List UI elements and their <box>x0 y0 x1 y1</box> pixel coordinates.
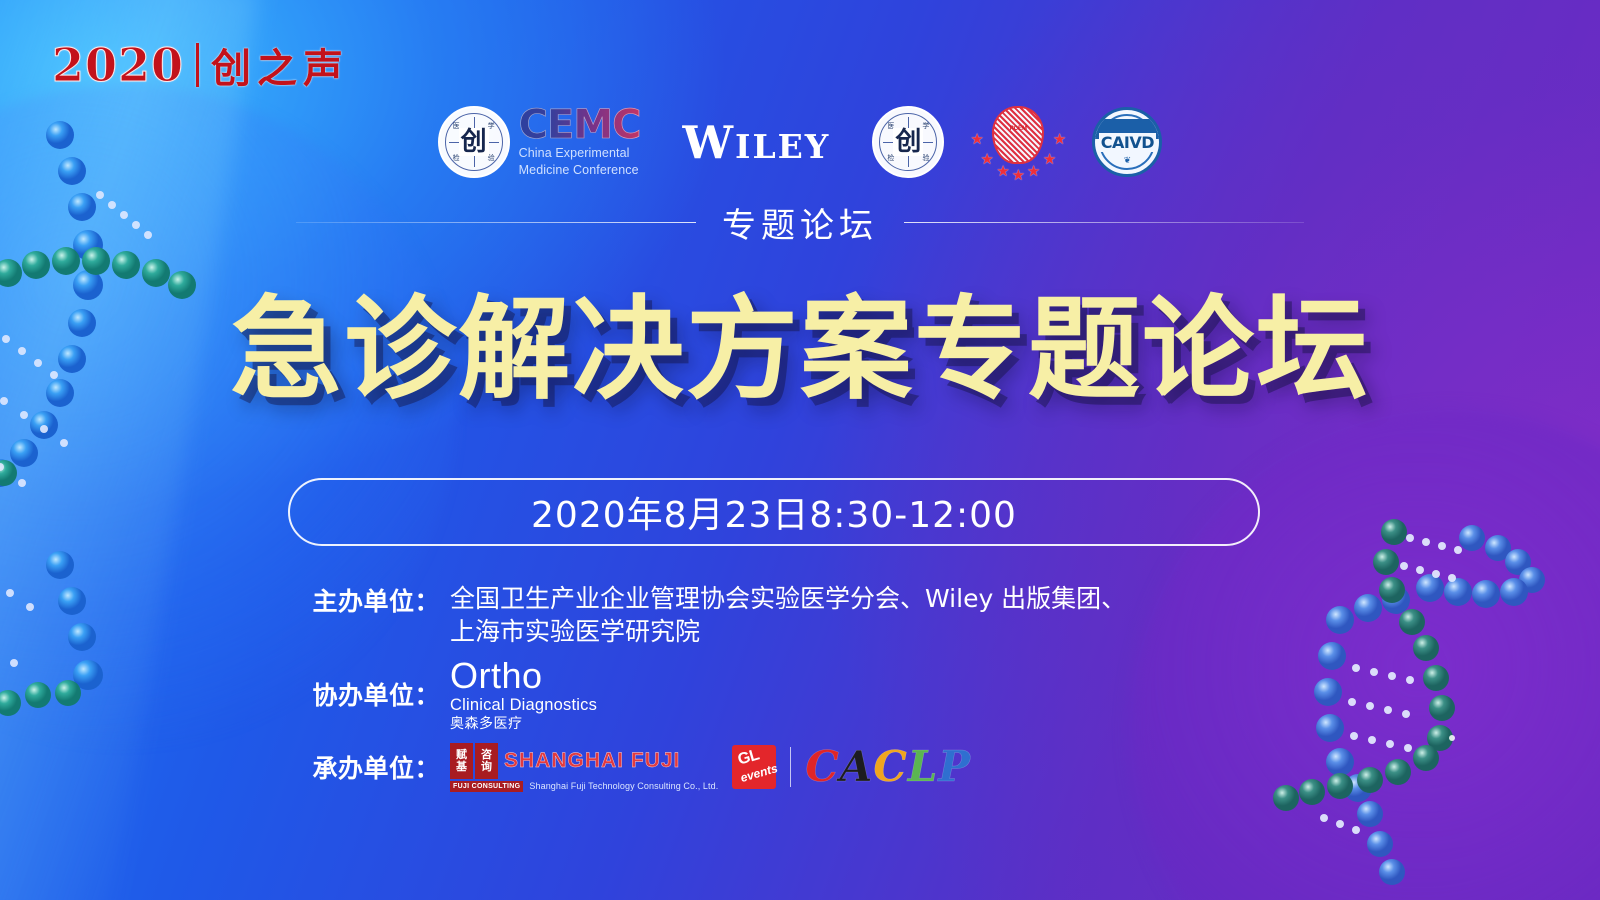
fuji-seal-squares-icon: 赋基 咨询 <box>450 743 498 779</box>
shanghai-fuji-logo: 赋基 咨询 SHANGHAI FUJI FUJI CONSULTING Shan… <box>450 743 718 792</box>
brand-cn-mark: 创之声 <box>211 36 349 94</box>
secondary-seal-logo: 医 学 检 验 创 <box>872 106 944 178</box>
seal-mini-4: 验 <box>488 153 495 163</box>
brand-year: 2020 <box>52 38 184 92</box>
seal2-mini-4: 验 <box>922 153 929 163</box>
partner-logo-row: 医 学 检 验 创 CEMC China Experimental Medici… <box>0 104 1600 180</box>
host-label: 主办单位： <box>300 582 450 618</box>
cemc-logo: 医 学 检 验 创 CEMC China Experimental Medici… <box>438 106 641 179</box>
cemc-seal-icon: 医 学 检 验 创 <box>438 106 510 178</box>
gl-events-logo: GL events <box>732 745 776 789</box>
forum-band-label: 专题论坛 <box>722 198 878 247</box>
host-line1: 全国卫生产业企业管理协会实验医学分会、Wiley 出版集团、 <box>450 584 1126 613</box>
host-line2: 上海市实验医学研究院 <box>450 615 1126 648</box>
organizer-logo-group: 赋基 咨询 SHANGHAI FUJI FUJI CONSULTING Shan… <box>450 743 971 792</box>
ortho-cn-name: 奥森多医疗 <box>450 717 597 731</box>
seal2-mini-2: 学 <box>922 121 929 131</box>
brand-divider-bar <box>196 43 199 87</box>
logo-divider <box>790 747 791 787</box>
pcem-emblem-icon: PCEM ★ ★ ★ ★ ★ ★ ★ <box>970 104 1066 180</box>
caclp-letter-3: C <box>873 746 907 788</box>
ortho-logo: Ortho Clinical Diagnostics 奥森多医疗 <box>450 658 597 731</box>
caclp-letter-1: C <box>805 746 839 788</box>
cohost-label: 协办单位： <box>300 676 450 712</box>
organizer-label: 承办单位： <box>300 749 450 785</box>
caclp-letter-4: L <box>908 746 939 788</box>
cohost-row: 协办单位： Ortho Clinical Diagnostics 奥森多医疗 <box>300 658 1340 731</box>
fuji-sq1-bot: 基 <box>456 761 467 773</box>
host-value: 全国卫生产业企业管理协会实验医学分会、Wiley 出版集团、 上海市实验医学研究… <box>450 582 1126 648</box>
host-row: 主办单位： 全国卫生产业企业管理协会实验医学分会、Wiley 出版集团、 上海市… <box>300 582 1340 648</box>
cemc-subtitle-line1: China Experimental <box>519 146 641 161</box>
cemc-subtitle-line2: Medicine Conference <box>519 163 641 178</box>
cemc-wordmark: CEMC <box>519 106 641 144</box>
fuji-wordmark: SHANGHAI FUJI <box>504 749 680 773</box>
forum-band: 专题论坛 <box>0 198 1600 247</box>
forum-rule-left <box>296 222 696 223</box>
organizer-row: 承办单位： 赋基 咨询 SHANGHAI FUJI FUJI CONSULTIN… <box>300 743 1340 792</box>
pcem-star-emblem-logo: PCEM ★ ★ ★ ★ ★ ★ ★ <box>970 104 1066 180</box>
caivd-logo: CAIVD ❦ <box>1092 107 1162 177</box>
seal-center-char: 创 <box>459 128 489 156</box>
poster-canvas: 2020 创之声 医 学 检 验 创 CEMC China Experiment… <box>0 0 1600 900</box>
organizer-block: 主办单位： 全国卫生产业企业管理协会实验医学分会、Wiley 出版集团、 上海市… <box>300 582 1340 796</box>
caivd-leaf-icon: ❦ <box>1124 155 1132 166</box>
ortho-wordmark: Ortho <box>450 658 597 694</box>
caivd-text: CAIVD <box>1099 133 1156 152</box>
wiley-logo: WILEY <box>682 120 830 165</box>
fuji-sq1-top: 赋 <box>456 749 467 761</box>
caivd-icon: CAIVD ❦ <box>1092 107 1162 177</box>
page-title: 急诊解决方案专题论坛 <box>0 290 1600 411</box>
event-date-text: 2020年8月23日8:30-12:00 <box>531 486 1017 538</box>
caclp-logo: CACLP <box>805 746 971 788</box>
fuji-tagline: FUJI CONSULTING <box>450 781 523 792</box>
secondary-seal-icon: 医 学 检 验 创 <box>872 106 944 178</box>
fuji-sq2-top: 咨 <box>481 749 492 761</box>
pcem-code: PCEM <box>995 126 1041 134</box>
seal2-center-char: 创 <box>893 128 923 156</box>
caclp-letter-2: A <box>840 746 874 788</box>
caclp-letter-5: P <box>938 746 971 788</box>
seal-mini-2: 学 <box>488 121 495 131</box>
fuji-sq2-bot: 询 <box>481 761 492 773</box>
fuji-company-en: Shanghai Fuji Technology Consulting Co.,… <box>529 781 718 791</box>
brand-wordmark: 2020 创之声 <box>52 36 349 94</box>
forum-rule-right <box>904 222 1304 223</box>
event-date-pill: 2020年8月23日8:30-12:00 <box>288 478 1260 546</box>
wiley-wordmark: WILEY <box>682 120 830 165</box>
ortho-subtitle: Clinical Diagnostics <box>450 697 597 714</box>
